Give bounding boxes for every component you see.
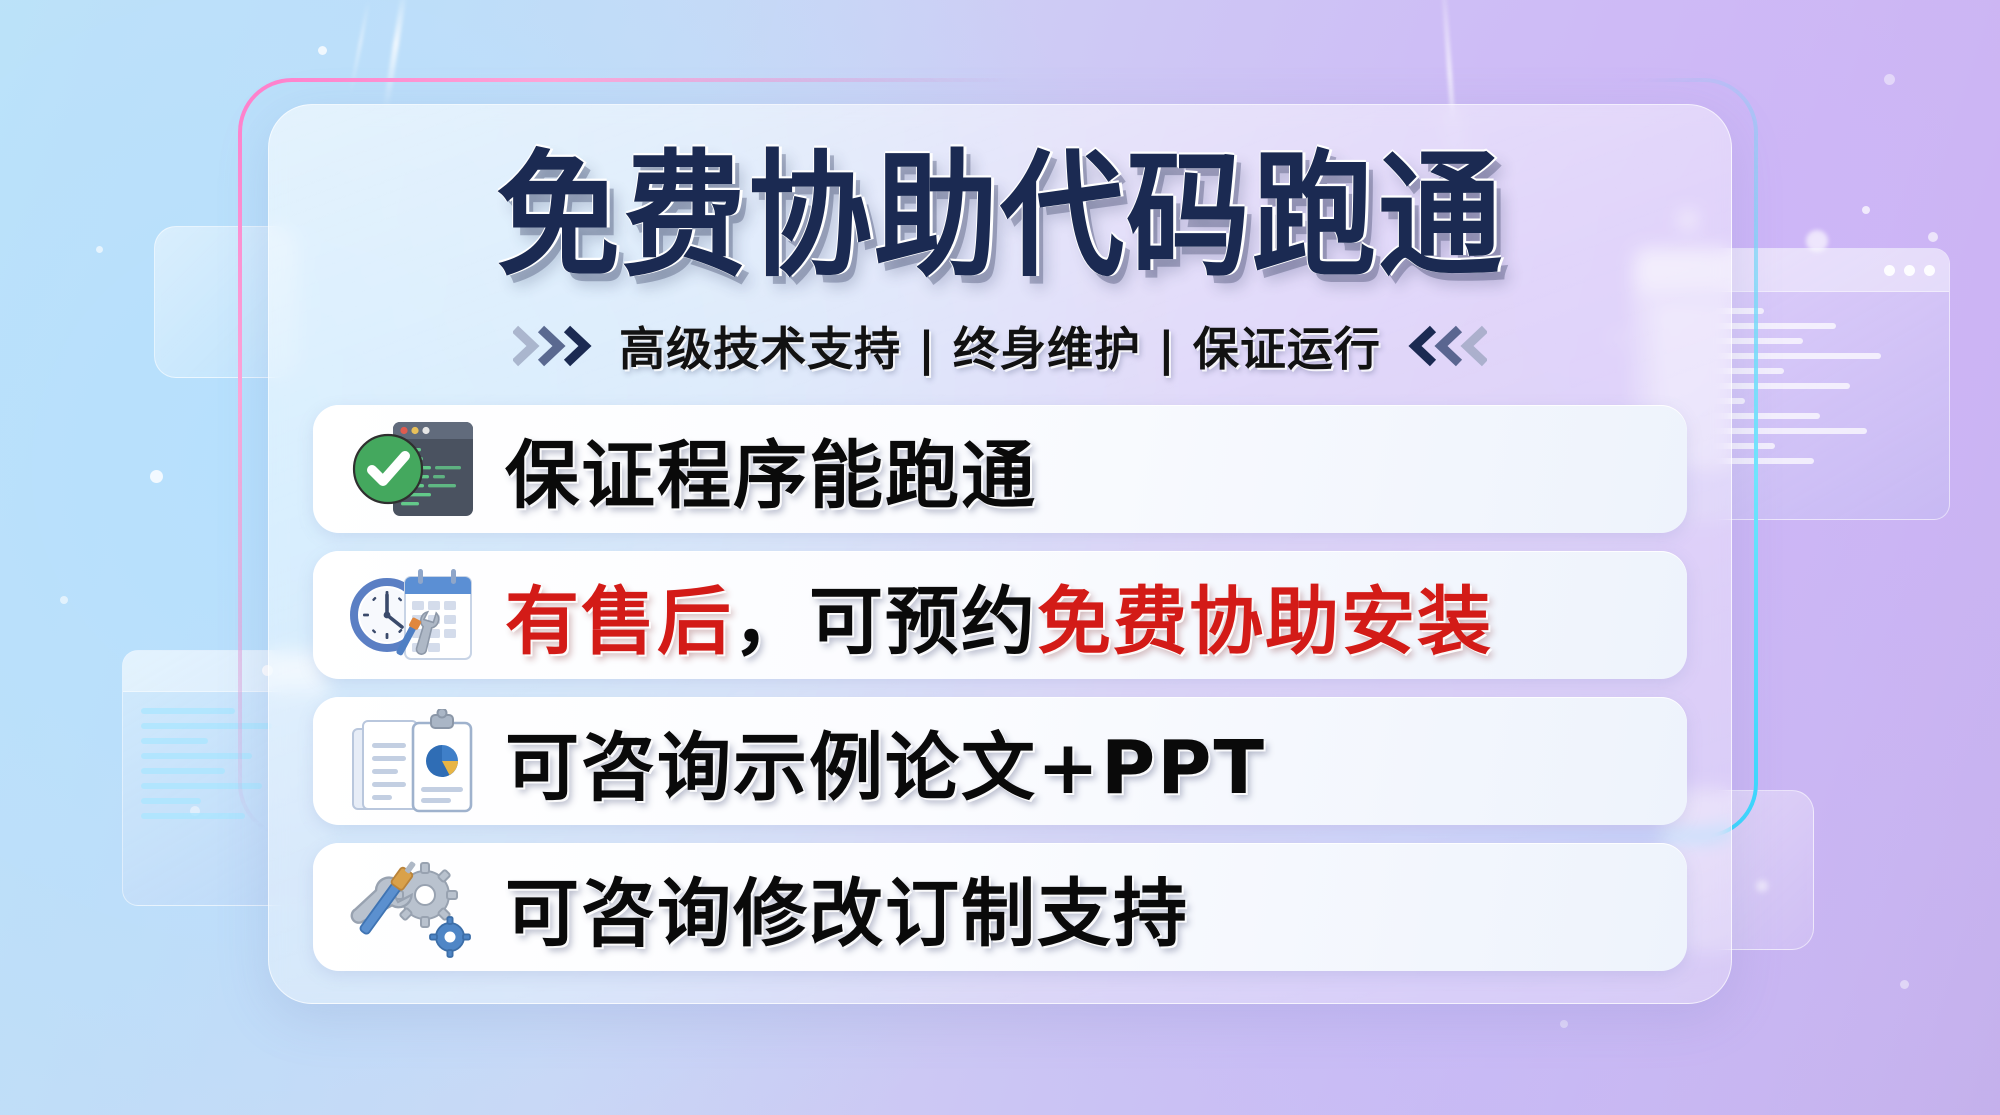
feature-row[interactable]: 可咨询示例论文+PPT xyxy=(313,697,1687,825)
bokeh-dot xyxy=(1884,74,1895,85)
feature-row[interactable]: 有售后，可预约免费协助安装 xyxy=(313,551,1687,679)
feature-label-segment: 保证程序能跑通 xyxy=(505,433,1037,519)
subtitle-row: 高级技术支持 | 终身维护 | 保证运行 xyxy=(513,313,1487,379)
subtitle-text: 高级技术支持 | 终身维护 | 保证运行 xyxy=(619,313,1381,379)
feature-row[interactable]: 可咨询修改订制支持 xyxy=(313,843,1687,971)
bokeh-dot xyxy=(1560,1020,1568,1028)
code-window-check-icon xyxy=(347,417,479,521)
feature-label: 可咨询示例论文+PPT xyxy=(505,708,1266,815)
bokeh-dot xyxy=(1928,232,1938,242)
feature-label: 有售后，可预约免费协助安装 xyxy=(505,562,1493,669)
feature-label: 可咨询修改订制支持 xyxy=(505,854,1189,961)
bokeh-dot xyxy=(1862,206,1870,214)
chevron-right-icon xyxy=(513,325,599,367)
feature-label: 保证程序能跑通 xyxy=(505,416,1037,523)
bokeh-dot xyxy=(1900,980,1909,989)
feature-label-segment: 可咨询修改订制支持 xyxy=(505,871,1189,957)
feature-row[interactable]: 保证程序能跑通 xyxy=(313,405,1687,533)
bokeh-dot xyxy=(60,596,68,604)
feature-label-segment: ，可预约 xyxy=(733,579,1037,665)
wrench-gear-screwdriver-icon xyxy=(347,855,479,959)
page-title: 免费协助代码跑通 xyxy=(496,149,1504,285)
bokeh-dot xyxy=(150,470,163,483)
documents-clipboard-chart-icon xyxy=(347,709,479,813)
feature-label-segment: 可咨询示例论文+PPT xyxy=(505,725,1266,811)
feature-list: 保证程序能跑通 xyxy=(313,405,1687,971)
bokeh-dot xyxy=(318,46,327,55)
clock-calendar-wrench-icon xyxy=(347,563,479,667)
bokeh-dot xyxy=(96,246,103,253)
feature-label-segment: 免费协助安装 xyxy=(1037,579,1493,665)
feature-label-segment: 有售后 xyxy=(505,579,733,665)
main-content-card: 免费协助代码跑通 高级技术支持 | 终身维护 | 保证运行 xyxy=(268,104,1732,1004)
chevron-left-icon xyxy=(1401,325,1487,367)
